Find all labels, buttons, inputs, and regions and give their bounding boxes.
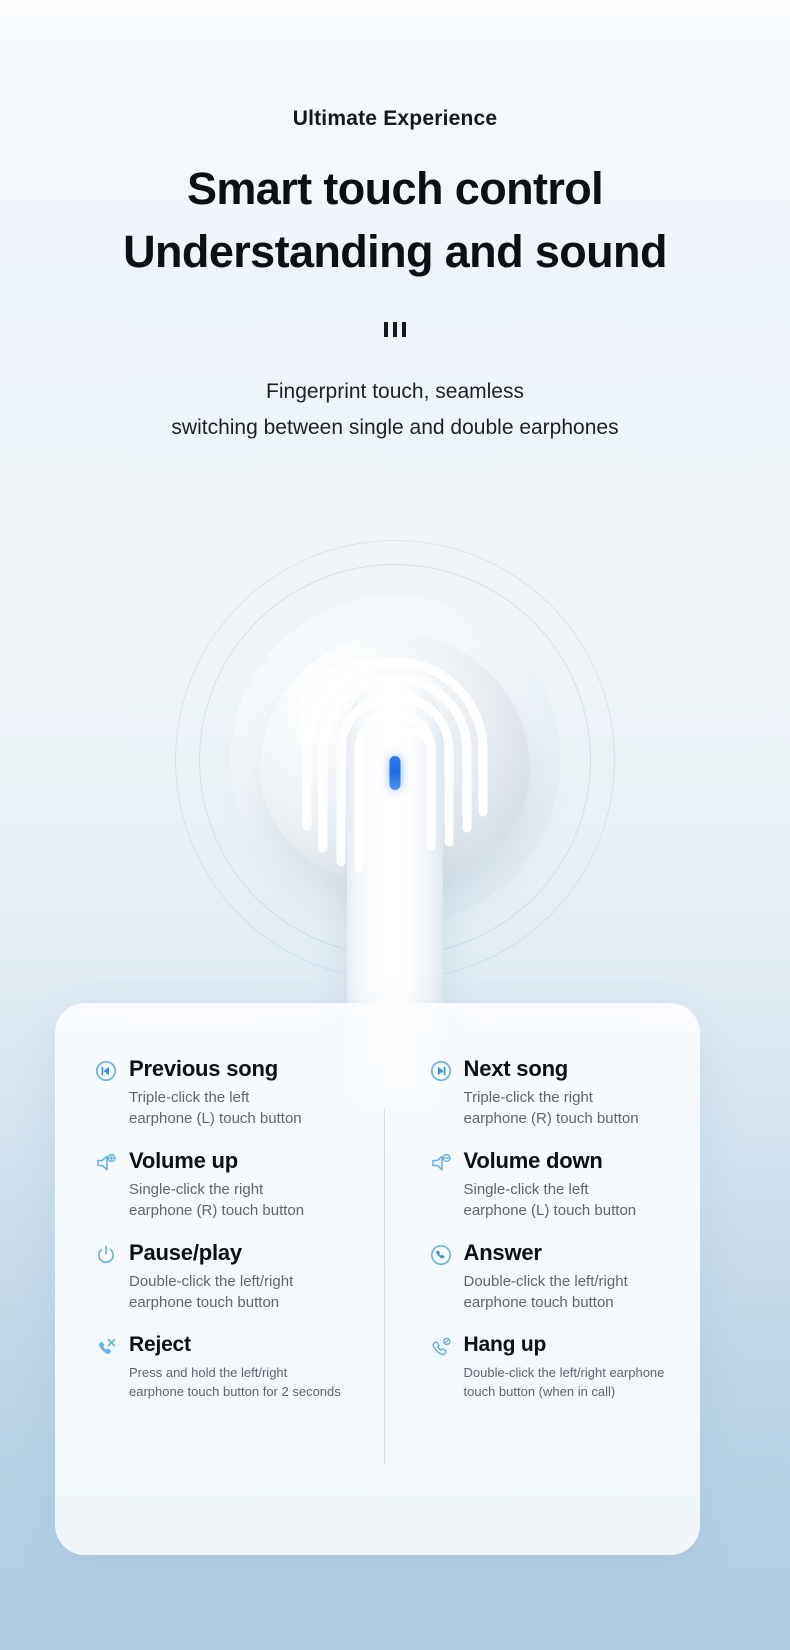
feature-text: Next song Triple-click the right earphon… [464,1055,675,1129]
volume-down-icon [428,1150,454,1176]
feature-text: Previous song Triple-click the left earp… [129,1055,384,1129]
feature-text: Pause/play Double-click the left/right e… [129,1239,384,1313]
headline-line-2: Understanding and sound [0,220,790,283]
call-hangup-icon [428,1334,454,1360]
desc-line-1: Triple-click the right [464,1087,675,1108]
desc-line-1: Triple-click the left [129,1087,384,1108]
feature-volume-up[interactable]: Volume up Single-click the right earphon… [93,1147,384,1221]
desc-line-2: earphone touch button [464,1292,675,1313]
product-feature-page: Ultimate Experience Smart touch control … [0,0,790,1650]
feature-answer[interactable]: Answer Double-click the left/right earph… [428,1239,675,1313]
subtitle-line-1: Fingerprint touch, seamless [0,374,790,410]
desc-line-2: earphone touch button [129,1292,384,1313]
feature-text: Hang up Double-click the left/right earp… [464,1331,675,1401]
feature-title: Reject [129,1331,384,1358]
divider-bar [393,322,397,337]
bars-divider [377,322,413,337]
feature-next-song[interactable]: Next song Triple-click the right earphon… [428,1055,675,1129]
desc-line-2: earphone touch button for 2 seconds [129,1382,384,1401]
desc-line-1: Double-click the left/right [129,1271,384,1292]
feature-title: Volume up [129,1147,384,1174]
page-subtitle: Fingerprint touch, seamless switching be… [0,374,790,446]
feature-text: Volume up Single-click the right earphon… [129,1147,384,1221]
divider-bar [384,322,388,337]
feature-volume-down[interactable]: Volume down Single-click the left earpho… [428,1147,675,1221]
feature-text: Answer Double-click the left/right earph… [464,1239,675,1313]
feature-description: Single-click the left earphone (L) touch… [464,1179,675,1221]
page-header: Ultimate Experience Smart touch control … [0,0,790,446]
desc-line-1: Double-click the left/right earphone [464,1363,675,1382]
feature-title: Volume down [464,1147,675,1174]
feature-description: Double-click the left/right earphone tou… [464,1271,675,1313]
subtitle-line-2: switching between single and double earp… [0,410,790,446]
volume-up-icon [93,1150,119,1176]
feature-reject[interactable]: Reject Press and hold the left/right ear… [93,1331,384,1401]
skip-next-circle-icon [428,1058,454,1084]
feature-previous-song[interactable]: Previous song Triple-click the left earp… [93,1055,384,1129]
feature-description: Press and hold the left/right earphone t… [129,1363,384,1401]
feature-description: Triple-click the left earphone (L) touch… [129,1087,384,1129]
desc-line-1: Single-click the left [464,1179,675,1200]
desc-line-1: Double-click the left/right [464,1271,675,1292]
page-title: Smart touch control Understanding and so… [0,157,790,283]
feature-text: Reject Press and hold the left/right ear… [129,1331,384,1401]
skip-previous-circle-icon [93,1058,119,1084]
feature-hang-up[interactable]: Hang up Double-click the left/right earp… [428,1331,675,1401]
desc-line-1: Press and hold the left/right [129,1363,384,1382]
desc-line-2: earphone (L) touch button [129,1108,384,1129]
call-reject-icon [93,1334,119,1360]
feature-description: Single-click the right earphone (R) touc… [129,1179,384,1221]
headline-line-1: Smart touch control [0,157,790,220]
controls-grid: Previous song Triple-click the left earp… [93,1055,674,1525]
feature-title: Next song [464,1055,675,1082]
desc-line-2: touch button (when in call) [464,1382,675,1401]
desc-line-2: earphone (L) touch button [464,1200,675,1221]
feature-description: Double-click the left/right earphone tou… [129,1271,384,1313]
feature-title: Answer [464,1239,675,1266]
divider-bar [402,322,406,337]
desc-line-2: earphone (R) touch button [129,1200,384,1221]
desc-line-1: Single-click the right [129,1179,384,1200]
power-icon [93,1242,119,1268]
feature-description: Double-click the left/right earphone tou… [464,1363,675,1401]
desc-line-2: earphone (R) touch button [464,1108,675,1129]
controls-left-column: Previous song Triple-click the left earp… [93,1055,384,1525]
feature-title: Hang up [464,1331,675,1358]
controls-right-column: Next song Triple-click the right earphon… [384,1055,675,1525]
eyebrow-text: Ultimate Experience [0,107,790,131]
feature-description: Triple-click the right earphone (R) touc… [464,1087,675,1129]
feature-text: Volume down Single-click the left earpho… [464,1147,675,1221]
touch-controls-card: Previous song Triple-click the left earp… [55,1003,700,1555]
feature-title: Previous song [129,1055,384,1082]
feature-title: Pause/play [129,1239,384,1266]
led-indicator [390,756,401,790]
call-answer-circle-icon [428,1242,454,1268]
feature-pause-play[interactable]: Pause/play Double-click the left/right e… [93,1239,384,1313]
